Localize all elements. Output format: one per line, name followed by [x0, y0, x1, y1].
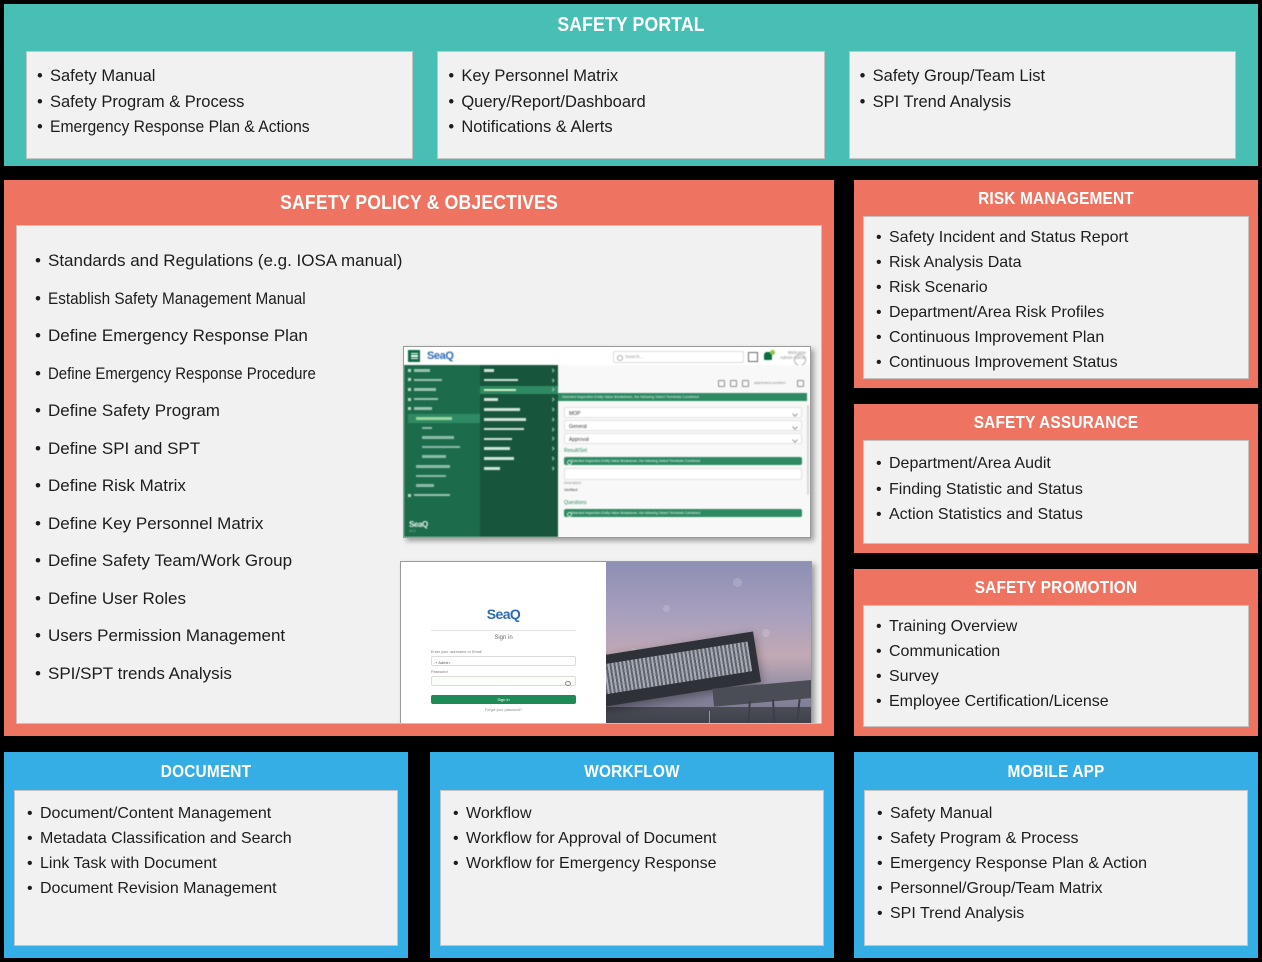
safety-policy-list-box: •Standards and Regulations (e.g. IOSA ma… — [16, 225, 822, 724]
mini-app-banner: Selected Inspection Entity Value Breakdo… — [558, 393, 807, 401]
mini-app-brand: SeaQ — [427, 350, 454, 362]
sidebar-subitem[interactable] — [408, 472, 480, 481]
list-item: •Action Statistics and Status — [876, 502, 1248, 528]
bullet-icon: • — [876, 664, 889, 689]
list-item: •Risk Analysis Data — [876, 250, 1248, 275]
bullet-icon: • — [876, 250, 889, 275]
divider — [431, 630, 576, 631]
mini-app-submenu — [480, 365, 558, 537]
bullet-icon: • — [35, 617, 48, 655]
list-item: •Link Task with Document — [27, 851, 397, 876]
mini-app-info-banner: Selected Inspection Entity Value Breakdo… — [564, 457, 802, 465]
submenu-item[interactable] — [480, 405, 558, 414]
list-item: •Standards and Regulations (e.g. IOSA ma… — [35, 242, 821, 280]
submenu-item[interactable] — [480, 366, 558, 375]
bullet-icon: • — [877, 826, 890, 851]
list-item: •Communication — [876, 639, 1248, 664]
safety-portal-list-2: •Key Personnel Matrix •Query/Report/Dash… — [448, 64, 813, 141]
bullet-icon: • — [876, 614, 889, 639]
mini-app-user-block: Welcome Admin Admin — [780, 350, 806, 360]
mini-app-input[interactable] — [564, 468, 802, 480]
sidebar-subitem[interactable] — [408, 462, 480, 471]
list-item-label: Risk Scenario — [889, 275, 988, 300]
bullet-icon: • — [877, 851, 890, 876]
bullet-icon: • — [35, 280, 48, 318]
panel-title-safety-portal: SAFETY PORTAL — [79, 14, 1183, 37]
bullet-icon: • — [35, 430, 48, 468]
list-item: •Notifications & Alerts — [448, 115, 813, 141]
safety-portal-column-2: •Key Personnel Matrix •Query/Report/Dash… — [437, 51, 824, 159]
list-item-label: Metadata Classification and Search — [40, 826, 292, 851]
list-item-label: Define Safety Team/Work Group — [48, 542, 292, 580]
bullet-icon: • — [453, 801, 466, 826]
refresh-icon[interactable] — [718, 380, 725, 387]
panel-title-document: DOCUMENT — [28, 761, 384, 782]
list-item-label: Workflow for Approval of Document — [466, 826, 716, 851]
list-item: •SPI Trend Analysis — [860, 90, 1225, 116]
sidebar-subitem[interactable] — [408, 433, 480, 442]
delete-icon[interactable] — [797, 380, 804, 387]
bullet-icon: • — [448, 64, 461, 90]
panel-mobile-app: MOBILE APP •Safety Manual •Safety Progra… — [854, 752, 1258, 958]
embedded-screenshot-seaq-console: SeaQ Search... Welcome Admin Admin — [403, 346, 811, 538]
bullet-icon: • — [876, 325, 889, 350]
list-item-label: Emergency Response Plan & Action — [890, 851, 1147, 876]
bullet-icon: • — [37, 90, 50, 116]
panel-title-mobile-app: MOBILE APP — [878, 761, 1234, 782]
list-item: •Department/Area Risk Profiles — [876, 300, 1248, 325]
notification-badge — [770, 350, 775, 355]
sidebar-subitem[interactable] — [408, 424, 480, 433]
list-item: •Safety Manual — [37, 64, 402, 90]
password-field[interactable] — [431, 676, 576, 686]
mini-app-topbar: SeaQ Search... Welcome Admin Admin — [404, 347, 810, 366]
panel-safety-promotion: SAFETY PROMOTION •Training Overview •Com… — [854, 569, 1258, 736]
safety-promotion-list: •Training Overview •Communication •Surve… — [876, 614, 1248, 714]
submenu-item[interactable] — [480, 415, 558, 424]
mini-login-window: SeaQ Sign in Enter your username or Emai… — [401, 562, 811, 724]
list-item: •Department/Area Audit — [876, 451, 1248, 477]
list-item-label: SPI Trend Analysis — [890, 901, 1024, 926]
bullet-icon: • — [453, 826, 466, 851]
bullet-icon: • — [35, 655, 48, 693]
username-label: Enter your username or Email — [431, 650, 481, 654]
list-item-label: Standards and Regulations (e.g. IOSA man… — [48, 242, 402, 280]
list-item-label: Safety Incident and Status Report — [889, 225, 1128, 250]
list-item-label: Define Emergency Response Plan — [48, 317, 308, 355]
list-item-label: Define Risk Matrix — [48, 467, 186, 505]
list-item: •Establish Safety Management Manual — [35, 280, 821, 318]
username-field[interactable]: + Admin — [431, 656, 576, 666]
panel-workflow: WORKFLOW •Workflow •Workflow for Approva… — [430, 752, 834, 958]
list-item: •Workflow — [453, 801, 823, 826]
bullet-icon: • — [876, 275, 889, 300]
bullet-icon: • — [876, 502, 889, 528]
edit-icon[interactable] — [730, 380, 737, 387]
mini-login-brand: SeaQ — [487, 606, 520, 622]
list-item: •Continuous Improvement Status — [876, 350, 1248, 375]
list-item: •Query/Report/Dashboard — [448, 90, 813, 116]
list-item: •Safety Program & Process — [877, 826, 1247, 851]
list-item-label: Key Personnel Matrix — [461, 64, 618, 90]
document-list: •Document/Content Management •Metadata C… — [27, 801, 397, 901]
mini-app-field-row[interactable]: Approval — [564, 433, 802, 444]
list-item: •Continuous Improvement Plan — [876, 325, 1248, 350]
link-icon[interactable] — [742, 380, 749, 387]
list-item-label: Workflow for Emergency Response — [466, 851, 716, 876]
bullet-icon: • — [27, 851, 40, 876]
field-label: Approval — [569, 437, 589, 443]
chevron-down-icon — [792, 437, 798, 443]
list-item: •Risk Scenario — [876, 275, 1248, 300]
panel-safety-policy-objectives: SAFETY POLICY & OBJECTIVES •Standards an… — [4, 180, 834, 736]
sidebar-item-active[interactable] — [408, 414, 480, 423]
bullet-icon: • — [876, 300, 889, 325]
panel-title-workflow: WORKFLOW — [454, 761, 810, 782]
list-item-label: Risk Analysis Data — [889, 250, 1022, 275]
panel-document: DOCUMENT •Document/Content Management •M… — [4, 752, 408, 958]
bullet-icon: • — [877, 901, 890, 926]
mini-app-info-banner: Selected Inspection Entity Value Breakdo… — [564, 509, 802, 517]
sidebar-subitem[interactable] — [408, 481, 480, 490]
bullet-icon: • — [35, 542, 48, 580]
home-icon — [408, 369, 411, 372]
list-item-label: Employee Certification/License — [889, 689, 1109, 714]
scrollbar[interactable] — [807, 405, 809, 495]
embedded-screenshot-seaq-login: SeaQ Sign in Enter your username or Emai… — [400, 561, 812, 724]
bullet-icon: • — [876, 225, 889, 250]
submenu-item[interactable] — [480, 376, 558, 385]
forgot-password-link[interactable]: Forgot your password? — [401, 708, 606, 712]
bullet-icon: • — [877, 876, 890, 901]
submenu-item[interactable] — [480, 444, 558, 453]
banner-text: Selected Inspection Entity Value Breakdo… — [558, 393, 807, 399]
list-item-label: Query/Report/Dashboard — [461, 90, 645, 116]
list-item: •Emergency Response Plan & Action — [877, 851, 1247, 876]
sidebar-subitem[interactable] — [408, 452, 480, 461]
bullet-icon: • — [860, 64, 873, 90]
panel-title-safety-promotion: SAFETY PROMOTION — [878, 577, 1234, 598]
bullet-icon: • — [876, 639, 889, 664]
list-item: •Workflow for Approval of Document — [453, 826, 823, 851]
mini-app-sub-value: Verified — [564, 487, 802, 492]
panel-title-safety-policy-objectives: SAFETY POLICY & OBJECTIVES — [54, 192, 784, 215]
list-item-label: Action Statistics and Status — [889, 502, 1083, 528]
hamburger-menu-icon[interactable] — [408, 350, 420, 362]
list-item: •SPI Trend Analysis — [877, 901, 1247, 926]
list-item-label: Communication — [889, 639, 1000, 664]
bullet-icon: • — [35, 392, 48, 430]
list-item-label: SPI/SPT trends Analysis — [48, 655, 232, 693]
footer-version: v1.0 — [409, 529, 428, 533]
bullet-icon: • — [877, 801, 890, 826]
bullet-icon: • — [35, 505, 48, 543]
safety-portal-list-box-2: •Key Personnel Matrix •Query/Report/Dash… — [437, 51, 824, 159]
safety-portal-column-3: •Safety Group/Team List •SPI Trend Analy… — [849, 51, 1236, 159]
bullet-icon: • — [448, 90, 461, 116]
mini-app-search-input[interactable]: Search... — [613, 351, 744, 363]
list-item-label: Users Permission Management — [48, 617, 285, 655]
bullet-icon: • — [876, 689, 889, 714]
bullet-icon: • — [37, 64, 50, 90]
submenu-item-active[interactable] — [480, 386, 558, 395]
list-item-label: Personnel/Group/Team Matrix — [890, 876, 1103, 901]
list-item: •Training Overview — [876, 614, 1248, 639]
submenu-item[interactable] — [480, 435, 558, 444]
sign-in-button[interactable]: Sign in — [431, 695, 576, 704]
bullet-icon: • — [876, 451, 889, 477]
risk-management-list: •Safety Incident and Status Report •Risk… — [876, 225, 1248, 375]
list-item-label: Finding Statistic and Status — [889, 477, 1083, 503]
bullet-icon: • — [27, 801, 40, 826]
list-item: •Employee Certification/License — [876, 689, 1248, 714]
list-item-label: Survey — [889, 664, 939, 689]
list-item-label: Department/Area Audit — [889, 451, 1051, 477]
safety-promotion-list-box: •Training Overview •Communication •Surve… — [863, 605, 1249, 727]
mini-login-heading: Sign in — [401, 635, 606, 641]
list-item: •Document/Content Management — [27, 801, 397, 826]
mini-app-toolbar: attachment.com/item — [718, 380, 804, 387]
list-item-label: Establish Safety Management Manual — [48, 280, 306, 318]
password-label: Password — [431, 670, 448, 674]
mini-app-field-row[interactable]: MOP — [564, 407, 802, 418]
list-item: •Key Personnel Matrix — [448, 64, 813, 90]
tasks-icon — [408, 378, 411, 381]
list-item-label: Department/Area Risk Profiles — [889, 300, 1104, 325]
list-item: •Finding Statistic and Status — [876, 477, 1248, 503]
list-item-label: SPI Trend Analysis — [873, 90, 1012, 116]
list-item-label: Continuous Improvement Plan — [889, 325, 1104, 350]
submenu-item[interactable] — [480, 454, 558, 463]
list-item: •Safety Program & Process — [37, 90, 402, 116]
bullet-icon: • — [27, 876, 40, 901]
list-item-label: Link Task with Document — [40, 851, 217, 876]
list-item-label: Define Key Personnel Matrix — [48, 505, 263, 543]
dashboard-icon — [408, 388, 411, 391]
list-item-label: Document/Content Management — [40, 801, 271, 826]
submenu-item[interactable] — [480, 395, 558, 404]
risk-management-list-box: •Safety Incident and Status Report •Risk… — [863, 216, 1249, 379]
bullet-icon: • — [27, 826, 40, 851]
bullet-icon: • — [35, 580, 48, 618]
modules-icon — [408, 407, 411, 410]
field-label: General — [569, 424, 587, 430]
safety-portal-list-3: •Safety Group/Team List •SPI Trend Analy… — [860, 64, 1225, 115]
mini-app-footer-brand: SeaQ v1.0 — [409, 520, 428, 533]
mini-app-field-row[interactable]: General — [564, 420, 802, 431]
workspace-icon — [408, 398, 411, 401]
bullet-icon: • — [876, 350, 889, 375]
panel-risk-management: RISK MANAGEMENT •Safety Incident and Sta… — [854, 180, 1258, 388]
workflow-list: •Workflow •Workflow for Approval of Docu… — [453, 801, 823, 876]
list-item-label: Define Emergency Response Procedure — [48, 355, 316, 393]
list-item-label: Safety Program & Process — [890, 826, 1079, 851]
list-item-label: Document Revision Management — [40, 876, 277, 901]
list-item-label: Emergency Response Plan & Actions — [50, 115, 310, 141]
list-item-label: Training Overview — [889, 614, 1017, 639]
mini-login-form-pane: SeaQ Sign in Enter your username or Emai… — [401, 562, 606, 724]
sidebar-item[interactable] — [408, 366, 480, 375]
list-item-label: Safety Manual — [50, 64, 155, 90]
eye-icon[interactable] — [565, 681, 571, 686]
mini-login-hero-image — [606, 562, 811, 724]
document-list-box: •Document/Content Management •Metadata C… — [14, 790, 398, 946]
mini-app-content: attachment.com/item Selected Inspection … — [558, 365, 810, 537]
bullet-icon: • — [876, 477, 889, 503]
list-item-label: Safety Group/Team List — [873, 64, 1045, 90]
mini-app-window: SeaQ Search... Welcome Admin Admin — [404, 347, 810, 537]
list-item: •Workflow for Emergency Response — [453, 851, 823, 876]
mobile-app-list-box: •Safety Manual •Safety Program & Process… — [864, 790, 1248, 946]
chevron-down-icon — [792, 411, 798, 417]
safety-portal-list-1: •Safety Manual •Safety Program & Process… — [37, 64, 402, 141]
mini-app-section-title: Result/Set — [564, 448, 802, 454]
list-item-label: Safety Manual — [890, 801, 992, 826]
submenu-item[interactable] — [480, 425, 558, 434]
bullet-icon: • — [453, 851, 466, 876]
bullet-icon: • — [35, 355, 48, 393]
bullet-icon: • — [448, 115, 461, 141]
hero-lane-marking — [709, 711, 711, 724]
list-item: •Safety Manual — [877, 801, 1247, 826]
list-item: •Emergency Response Plan & Actions — [37, 115, 402, 141]
bullet-icon: • — [35, 467, 48, 505]
safety-portal-columns: •Safety Manual •Safety Program & Process… — [4, 37, 1258, 159]
list-item: •Safety Group/Team List — [860, 64, 1225, 90]
list-item-label: Workflow — [466, 801, 532, 826]
panel-title-risk-management: RISK MANAGEMENT — [878, 188, 1234, 209]
panel-safety-portal: SAFETY PORTAL •Safety Manual •Safety Pro… — [4, 4, 1258, 166]
safety-assurance-list-box: •Department/Area Audit •Finding Statisti… — [863, 440, 1249, 544]
list-item-label: Notifications & Alerts — [461, 115, 612, 141]
list-item-label: Define Safety Program — [48, 392, 220, 430]
list-item: •Metadata Classification and Search — [27, 826, 397, 851]
safety-portal-list-box-1: •Safety Manual •Safety Program & Process… — [26, 51, 413, 159]
safety-portal-list-box-3: •Safety Group/Team List •SPI Trend Analy… — [849, 51, 1236, 159]
sidebar-item[interactable] — [408, 491, 480, 500]
safety-management-system-diagram: SAFETY PORTAL •Safety Manual •Safety Pro… — [0, 0, 1262, 962]
bullet-icon: • — [860, 90, 873, 116]
workflow-list-box: •Workflow •Workflow for Approval of Docu… — [440, 790, 824, 946]
sidebar-subitem[interactable] — [408, 443, 480, 452]
chevron-down-icon — [792, 424, 798, 430]
submenu-item[interactable] — [480, 464, 558, 473]
footer-brand-label: SeaQ — [409, 520, 428, 529]
calendar-icon[interactable] — [748, 352, 758, 362]
bullet-icon: • — [35, 317, 48, 355]
list-item-label: Define SPI and SPT — [48, 430, 200, 468]
list-item-label: Continuous Improvement Status — [889, 350, 1118, 375]
list-item-label: Define User Roles — [48, 580, 186, 618]
mini-app-sub-label: Description — [564, 481, 802, 485]
sidebar-item[interactable] — [408, 385, 480, 394]
system-admin-icon — [408, 494, 411, 497]
bullet-icon: • — [37, 115, 50, 141]
list-item: •Survey — [876, 664, 1248, 689]
panel-title-safety-assurance: SAFETY ASSURANCE — [878, 412, 1234, 433]
list-item: •Personnel/Group/Team Matrix — [877, 876, 1247, 901]
panel-safety-assurance: SAFETY ASSURANCE •Department/Area Audit … — [854, 404, 1258, 553]
sidebar-item[interactable] — [408, 404, 480, 413]
list-item: •Safety Incident and Status Report — [876, 225, 1248, 250]
sidebar-item[interactable] — [408, 395, 480, 404]
mini-app-sidebar: SeaQ v1.0 — [404, 365, 480, 537]
field-label: MOP — [569, 411, 580, 417]
bullet-icon: • — [35, 242, 48, 280]
safety-portal-column-1: •Safety Manual •Safety Program & Process… — [26, 51, 413, 159]
list-item-label: Safety Program & Process — [50, 90, 244, 116]
mobile-app-list: •Safety Manual •Safety Program & Process… — [877, 801, 1247, 926]
safety-assurance-list: •Department/Area Audit •Finding Statisti… — [876, 451, 1248, 528]
list-item: •Document Revision Management — [27, 876, 397, 901]
mini-app-section-title: Questions — [564, 500, 802, 506]
sidebar-item[interactable] — [408, 376, 480, 385]
